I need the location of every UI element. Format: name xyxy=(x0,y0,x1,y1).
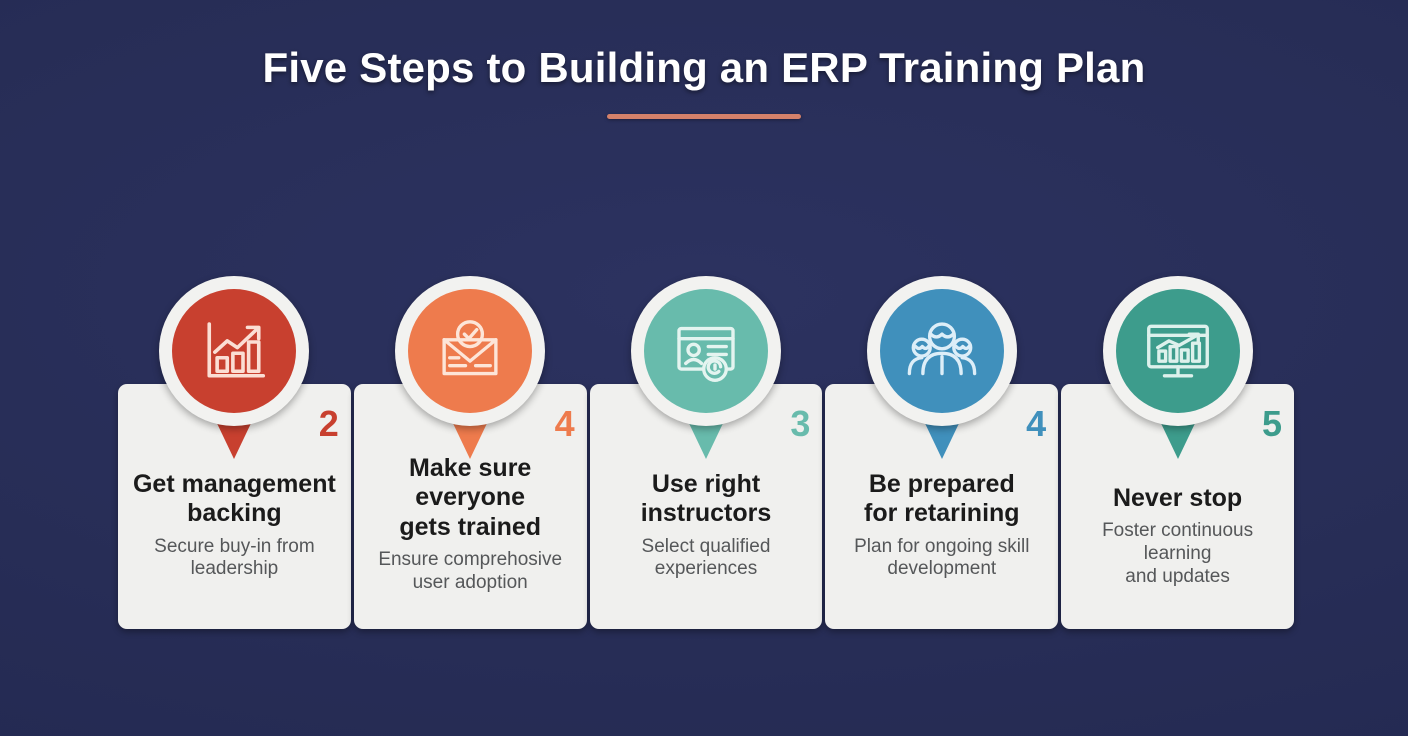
step-card-2[interactable]: 4 Make sure everyone gets trained Ensure… xyxy=(354,384,587,629)
step-subtitle-1: Secure buy-in from leadership xyxy=(126,536,343,582)
step-body-2: Make sure everyone gets trained Ensure c… xyxy=(362,454,579,594)
step-number-4: 4 xyxy=(1026,406,1046,442)
step-card-4[interactable]: 4 Be prepared for retarining Plan for on… xyxy=(825,384,1058,629)
step-card-3[interactable]: 3 Use right instructors Select qualified… xyxy=(590,384,823,629)
email-verified-icon xyxy=(434,315,506,387)
monitor-analytics-icon xyxy=(1142,315,1214,387)
pin-disc-3 xyxy=(644,289,768,413)
step-number-2: 4 xyxy=(555,406,575,442)
step-pin-3[interactable] xyxy=(631,276,781,464)
step-pin-5[interactable] xyxy=(1103,276,1253,464)
step-pin-4[interactable] xyxy=(867,276,1017,464)
step-title-5: Never stop xyxy=(1069,484,1286,513)
steps-row: 2 Get management backing Secure buy-in f… xyxy=(118,384,1294,629)
step-body-4: Be prepared for retarining Plan for ongo… xyxy=(833,470,1050,581)
step-title-4: Be prepared for retarining xyxy=(833,470,1050,529)
step-pin-1[interactable] xyxy=(159,276,309,464)
step-body-5: Never stop Foster continuous learning an… xyxy=(1069,484,1286,589)
certificate-badge-icon xyxy=(670,315,742,387)
title-underline-accent xyxy=(607,114,801,119)
step-title-1: Get management backing xyxy=(126,470,343,529)
step-body-1: Get management backing Secure buy-in fro… xyxy=(126,470,343,581)
step-subtitle-2: Ensure comprehosive user adoption xyxy=(362,549,579,595)
step-body-3: Use right instructors Select qualified e… xyxy=(598,470,815,581)
page-title: Five Steps to Building an ERP Training P… xyxy=(0,44,1408,92)
step-number-3: 3 xyxy=(790,406,810,442)
people-group-icon xyxy=(906,315,978,387)
pin-disc-4 xyxy=(880,289,1004,413)
step-number-1: 2 xyxy=(319,406,339,442)
pin-disc-5 xyxy=(1116,289,1240,413)
bar-chart-growth-icon xyxy=(198,315,270,387)
step-pin-2[interactable] xyxy=(395,276,545,464)
step-card-1[interactable]: 2 Get management backing Secure buy-in f… xyxy=(118,384,351,629)
pin-disc-1 xyxy=(172,289,296,413)
step-title-2: Make sure everyone gets trained xyxy=(362,454,579,542)
header: Five Steps to Building an ERP Training P… xyxy=(0,44,1408,119)
step-subtitle-3: Select qualified experiences xyxy=(598,536,815,582)
step-subtitle-5: Foster continuous learning and updates xyxy=(1069,520,1286,588)
pin-disc-2 xyxy=(408,289,532,413)
step-card-5[interactable]: 5 Never stop Foster continuous learning … xyxy=(1061,384,1294,629)
step-title-3: Use right instructors xyxy=(598,470,815,529)
step-number-5: 5 xyxy=(1262,406,1282,442)
step-subtitle-4: Plan for ongoing skill development xyxy=(833,536,1050,582)
